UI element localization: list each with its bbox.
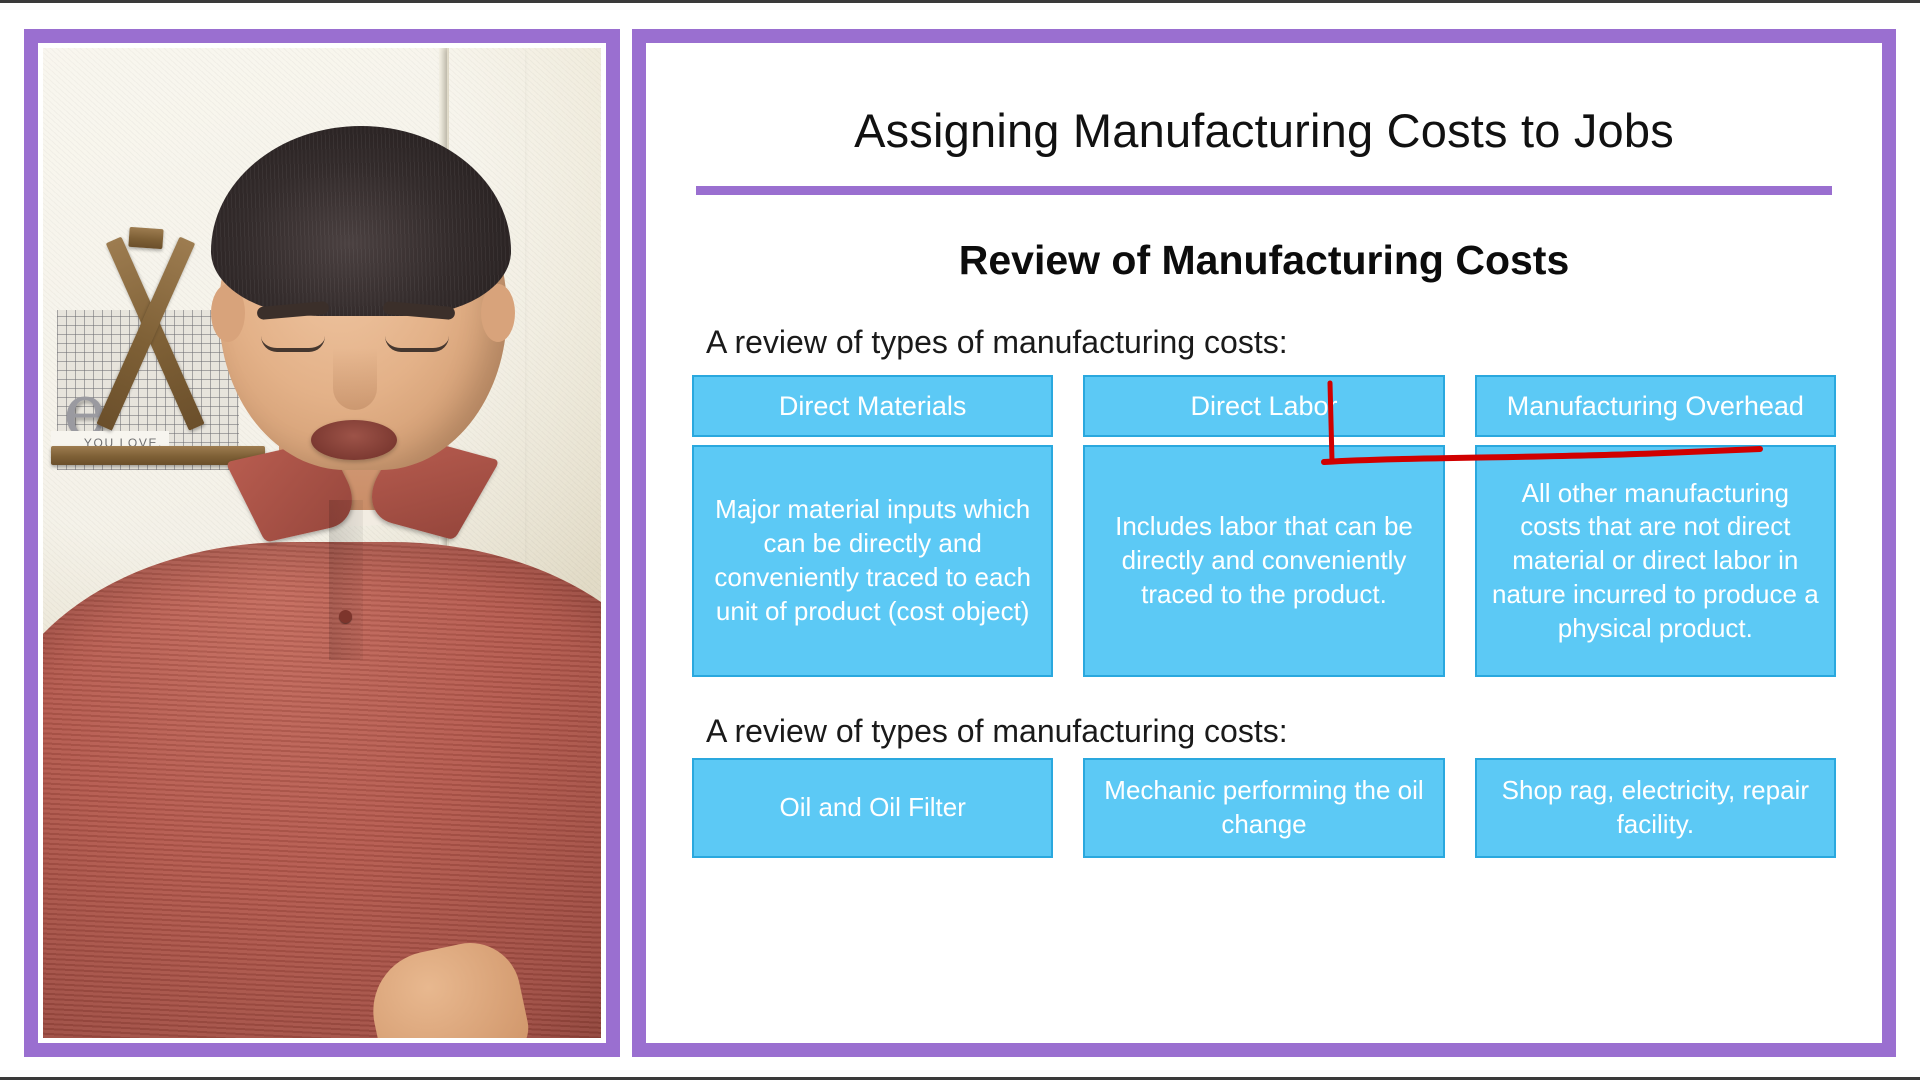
cost-type-example-direct-labor[interactable]: Mechanic performing the oil change bbox=[1083, 758, 1444, 858]
cost-type-example-manufacturing-overhead[interactable]: Shop rag, electricity, repair facility. bbox=[1475, 758, 1836, 858]
nose bbox=[333, 348, 377, 410]
cost-type-description-manufacturing-overhead: All other manufacturing costs that are n… bbox=[1475, 445, 1836, 677]
cost-type-example-direct-materials[interactable]: Oil and Oil Filter bbox=[692, 758, 1053, 858]
eye-right bbox=[385, 336, 449, 352]
presenter-shirt bbox=[43, 542, 601, 1038]
presenter-hair bbox=[211, 126, 511, 316]
presenter-figure bbox=[43, 48, 601, 1038]
eye-left bbox=[261, 336, 325, 352]
cost-type-description-row: Major material inputs which can be direc… bbox=[692, 445, 1836, 677]
slide-panel[interactable]: Assigning Manufacturing Costs to Jobs Re… bbox=[632, 29, 1896, 1057]
cost-type-description-direct-labor: Includes labor that can be directly and … bbox=[1083, 445, 1444, 677]
slide-subtitle: Review of Manufacturing Costs bbox=[692, 237, 1836, 284]
webcam-video-feed[interactable]: e YOU LOVE. bbox=[43, 48, 601, 1038]
cost-type-header-direct-materials[interactable]: Direct Materials bbox=[692, 375, 1053, 437]
cost-type-header-row: Direct Materials Direct Labor Manufactur… bbox=[692, 375, 1836, 437]
title-underline-rule bbox=[696, 186, 1832, 195]
cost-type-header-direct-labor[interactable]: Direct Labor bbox=[1083, 375, 1444, 437]
mouth bbox=[311, 420, 397, 460]
presenter-video-panel[interactable]: e YOU LOVE. bbox=[24, 29, 620, 1057]
lead-text-definitions: A review of types of manufacturing costs… bbox=[706, 324, 1836, 361]
ear-right bbox=[481, 284, 515, 342]
screen-root: e YOU LOVE. bbox=[0, 0, 1920, 1080]
cost-type-header-manufacturing-overhead[interactable]: Manufacturing Overhead bbox=[1475, 375, 1836, 437]
lead-text-examples: A review of types of manufacturing costs… bbox=[706, 713, 1836, 750]
shirt-placket bbox=[329, 500, 363, 660]
cost-type-example-row: Oil and Oil Filter Mechanic performing t… bbox=[692, 758, 1836, 858]
cost-type-description-direct-materials: Major material inputs which can be direc… bbox=[692, 445, 1053, 677]
slide-title: Assigning Manufacturing Costs to Jobs bbox=[692, 103, 1836, 158]
presentation-slide: Assigning Manufacturing Costs to Jobs Re… bbox=[646, 43, 1882, 1043]
shirt-button bbox=[339, 610, 352, 623]
